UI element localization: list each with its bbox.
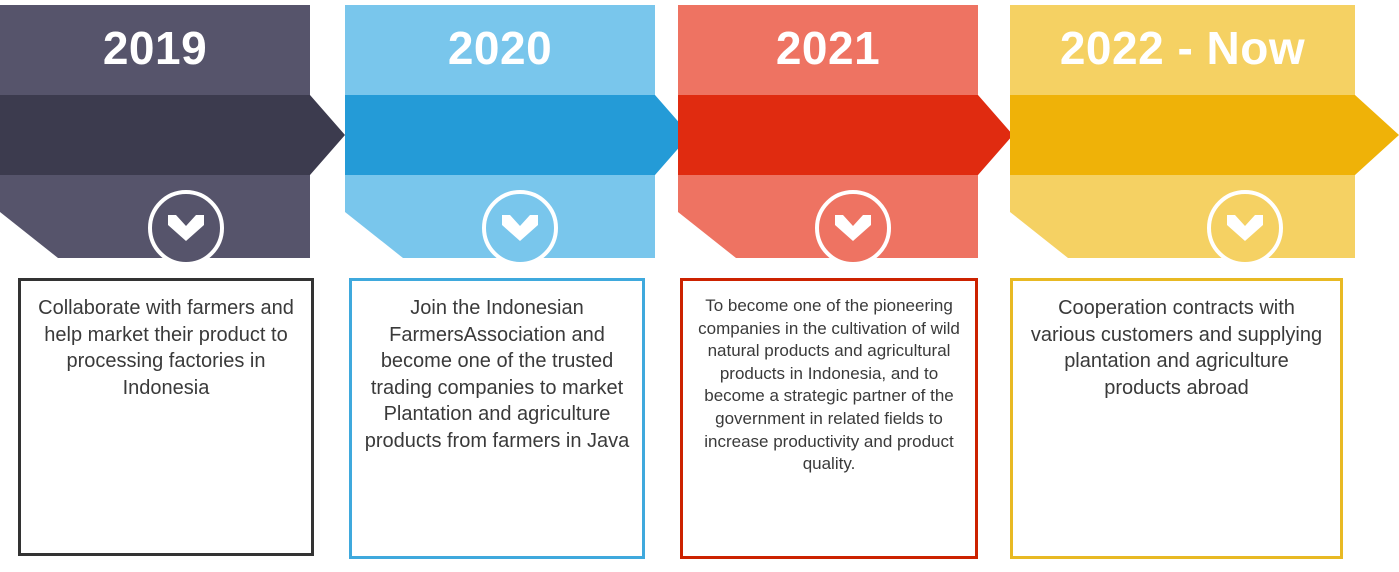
milestone-description-2019: Collaborate with farmers and help market… xyxy=(33,295,299,401)
milestone-description-2021: To become one of the pioneering companie… xyxy=(695,295,963,476)
banner-top-2021 xyxy=(678,5,978,95)
banner-arrow-band-2022-now xyxy=(1010,95,1399,175)
chevron-down-icon xyxy=(835,215,871,241)
milestone-badge-2019[interactable] xyxy=(148,190,224,266)
timeline-infographic: 2019 Collaborate with farmers and help m… xyxy=(0,0,1399,572)
milestone-textbox-2021: To become one of the pioneering companie… xyxy=(680,278,978,559)
milestone-textbox-2019: Collaborate with farmers and help market… xyxy=(18,278,314,556)
banner-top-2019 xyxy=(0,5,310,95)
banner-arrow-band-2020 xyxy=(345,95,690,175)
banner-arrow-band-2019 xyxy=(0,95,345,175)
milestone-badge-2022-now[interactable] xyxy=(1207,190,1283,266)
banner-top-2020 xyxy=(345,5,655,95)
milestone-textbox-2022-now: Cooperation contracts with various custo… xyxy=(1010,278,1343,559)
milestone-banner-2022-now[interactable] xyxy=(1010,0,1399,260)
banner-arrow-band-2021 xyxy=(678,95,1013,175)
milestone-badge-2021[interactable] xyxy=(815,190,891,266)
banner-top-2022-now xyxy=(1010,5,1355,95)
milestone-description-2020: Join the Indonesian FarmersAssociation a… xyxy=(364,295,630,455)
chevron-down-icon xyxy=(168,215,204,241)
milestone-description-2022-now: Cooperation contracts with various custo… xyxy=(1025,295,1328,401)
banner-bottom-2022-now xyxy=(1010,175,1355,258)
milestone-textbox-2020: Join the Indonesian FarmersAssociation a… xyxy=(349,278,645,559)
chevron-down-icon xyxy=(502,215,538,241)
milestone-badge-2020[interactable] xyxy=(482,190,558,266)
chevron-down-icon xyxy=(1227,215,1263,241)
